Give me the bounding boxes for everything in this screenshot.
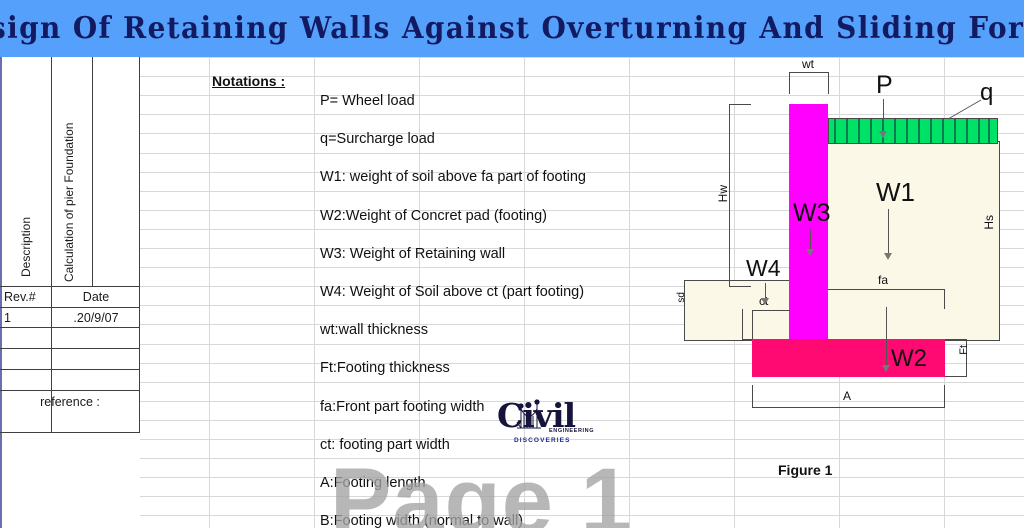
notation-item: wt:wall thickness <box>320 322 428 338</box>
logo-tagline-discoveries: DISCOVERIES <box>514 437 571 444</box>
title-block: Description Calculation of pier Foundati… <box>0 57 140 528</box>
title-banner: Design Of Retaining Walls Against Overtu… <box>0 0 1024 57</box>
page-root: Design Of Retaining Walls Against Overtu… <box>0 0 1024 528</box>
page-watermark: Page 1 <box>330 449 633 528</box>
arrow-w3-head <box>806 249 814 256</box>
notation-item: q=Surcharge load <box>320 131 435 147</box>
label-w1: W1 <box>876 177 915 208</box>
date-value: .20/9/07 <box>52 308 140 327</box>
titleblock-divider <box>92 57 93 286</box>
arrow-w2 <box>886 307 887 369</box>
notation-item: fa:Front part footing width <box>320 399 484 415</box>
date-header: Date <box>52 287 140 307</box>
notation-item: W4: Weight of Soil above ct (part footin… <box>320 284 584 300</box>
civil-engineering-discoveries-logo: Civil ENGINEERING DISCOVERIES <box>497 398 593 446</box>
arrow-w1 <box>888 209 889 256</box>
page-title: Design Of Retaining Walls Against Overtu… <box>36 0 988 57</box>
q-leader-line <box>676 57 1024 407</box>
titleblock-hline <box>0 348 140 349</box>
dim-a-line <box>752 407 945 408</box>
description-label: Description <box>19 107 33 277</box>
notation-item: Ft:Footing thickness <box>320 360 450 376</box>
rev-value: 1 <box>4 308 11 327</box>
label-w4: W4 <box>746 255 781 282</box>
notations-heading: Notations : <box>212 73 285 89</box>
rev-header: Rev.# <box>4 287 36 307</box>
arrow-w4-head <box>761 298 769 305</box>
notation-item: W1: weight of soil above fa part of foot… <box>320 169 586 185</box>
titleblock-hline <box>0 369 140 370</box>
titleblock-left-edge <box>0 57 2 528</box>
spreadsheet-sheet: Description Calculation of pier Foundati… <box>0 57 1024 528</box>
notation-item: W2:Weight of Concret pad (footing) <box>320 208 547 224</box>
retaining-wall-figure: wt Hw Hs sd ct fa Ft <box>676 57 1024 407</box>
titleblock-hline <box>0 432 140 433</box>
logo-tagline-engineering: ENGINEERING <box>549 428 594 434</box>
figure-caption: Figure 1 <box>778 462 832 478</box>
arrow-w1-head <box>884 253 892 260</box>
notation-item: P= Wheel load <box>320 93 415 109</box>
project-label: Calculation of pier Foundation <box>62 77 76 282</box>
titleblock-divider <box>51 57 52 286</box>
notation-item: W3: Weight of Retaining wall <box>320 246 505 262</box>
reference-label: reference : <box>0 391 140 413</box>
label-w2: W2 <box>891 345 927 373</box>
titleblock-right-edge <box>139 57 140 432</box>
titleblock-hline <box>0 327 140 328</box>
label-w3: W3 <box>793 199 831 228</box>
arrow-w2-head <box>882 365 890 372</box>
